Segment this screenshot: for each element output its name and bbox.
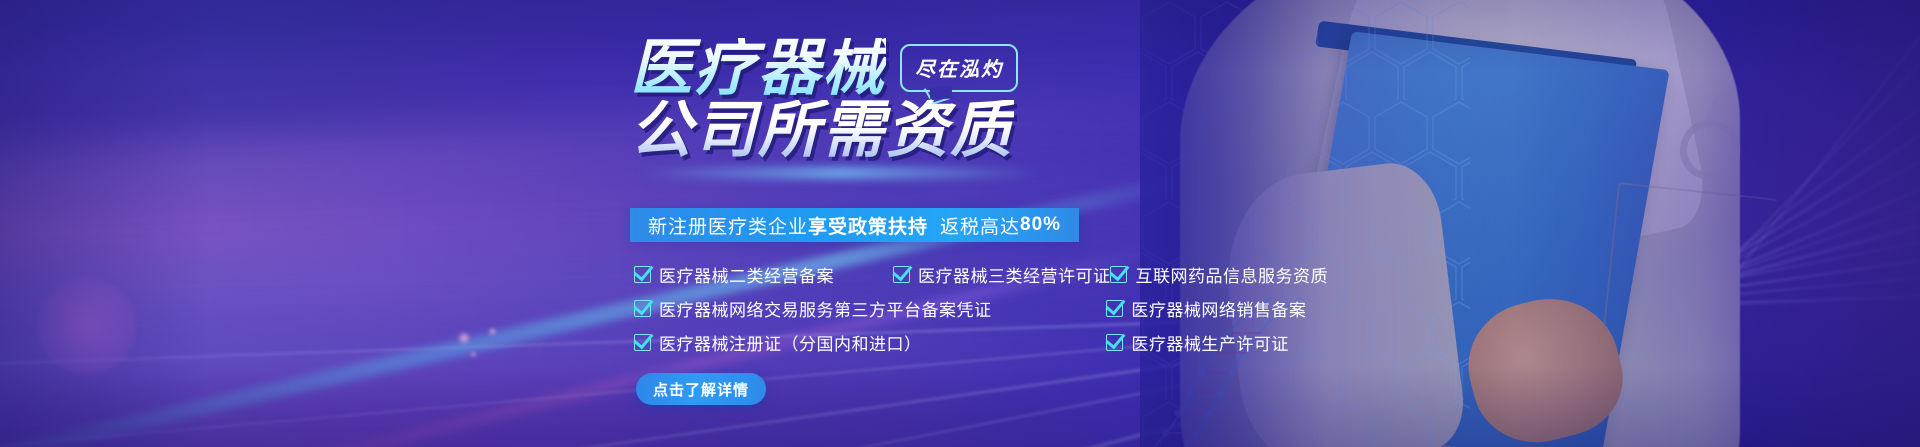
headline-underglow xyxy=(640,168,1040,178)
list-item[interactable]: 医疗器械网络交易服务第三方平台备案凭证 xyxy=(634,296,1106,321)
list-item-label: 医疗器械生产许可证 xyxy=(1131,330,1289,355)
list-item[interactable]: 医疗器械二类经营备案 xyxy=(634,262,893,287)
checkbox-checked-icon xyxy=(893,266,910,283)
badge-speech-bubble: 尽在泓灼 xyxy=(900,44,1018,92)
list-item-label: 互联网药品信息服务资质 xyxy=(1135,262,1328,287)
list-item-label: 医疗器械注册证（分国内和进口） xyxy=(659,330,922,355)
list-item-label: 医疗器械网络销售备案 xyxy=(1131,296,1306,321)
list-item-label: 医疗器械网络交易服务第三方平台备案凭证 xyxy=(659,296,992,321)
checkbox-checked-icon xyxy=(634,300,651,317)
checklist-cell: 医疗器械二类经营备案 xyxy=(634,262,893,287)
checklist-cell: 医疗器械网络销售备案 xyxy=(1106,296,1334,321)
cta-button[interactable]: 点击了解详情 xyxy=(636,373,766,405)
checkbox-checked-icon xyxy=(1106,334,1123,351)
medical-device-qualification-banner: 医疗器械 尽在泓灼 公司所需资质 新注册医疗类企业享受政策扶持返税高达80% 医… xyxy=(0,0,1920,447)
checklist-cell: 医疗器械三类经营许可证 xyxy=(893,262,1111,287)
checkbox-checked-icon xyxy=(634,266,651,283)
list-item[interactable]: 医疗器械网络销售备案 xyxy=(1106,296,1334,321)
headline-row: 医疗器械 尽在泓灼 xyxy=(630,38,1018,100)
badge-label: 尽在泓灼 xyxy=(915,59,1003,81)
qualification-checklist: 医疗器械二类经营备案 医疗器械三类经营许可证 互联网药品信息服务资质 xyxy=(634,262,1334,364)
list-item-label: 医疗器械三类经营许可证 xyxy=(918,262,1111,287)
list-item[interactable]: 互联网药品信息服务资质 xyxy=(1110,262,1334,287)
checklist-cell: 医疗器械生产许可证 xyxy=(1106,330,1334,355)
checklist-cell: 医疗器械注册证（分国内和进口） xyxy=(634,330,1106,355)
subtitle-bold: 享受政策扶持 xyxy=(808,212,928,239)
headline-line-2: 公司所需资质 xyxy=(630,100,1014,162)
subtitle-suffix: 返税高达 xyxy=(940,212,1020,239)
checkbox-checked-icon xyxy=(1106,300,1123,317)
checklist-cell: 医疗器械网络交易服务第三方平台备案凭证 xyxy=(634,296,1106,321)
headline-line-1: 医疗器械 xyxy=(630,38,886,100)
checklist-row: 医疗器械二类经营备案 医疗器械三类经营许可证 互联网药品信息服务资质 xyxy=(634,262,1334,296)
list-item[interactable]: 医疗器械三类经营许可证 xyxy=(893,262,1111,287)
checkbox-checked-icon xyxy=(1110,266,1127,283)
subtitle-bar: 新注册医疗类企业享受政策扶持返税高达80% xyxy=(630,208,1079,242)
list-item-label: 医疗器械二类经营备案 xyxy=(659,262,834,287)
checklist-row: 医疗器械注册证（分国内和进口） 医疗器械生产许可证 xyxy=(634,330,1334,364)
list-item[interactable]: 医疗器械生产许可证 xyxy=(1106,330,1334,355)
subtitle-prefix: 新注册医疗类企业 xyxy=(648,212,808,239)
banner-content: 医疗器械 尽在泓灼 公司所需资质 新注册医疗类企业享受政策扶持返税高达80% 医… xyxy=(630,0,1330,447)
checklist-cell: 互联网药品信息服务资质 xyxy=(1110,262,1334,287)
list-item[interactable]: 医疗器械注册证（分国内和进口） xyxy=(634,330,1106,355)
checklist-row: 医疗器械网络交易服务第三方平台备案凭证 医疗器械网络销售备案 xyxy=(634,296,1334,330)
checkbox-checked-icon xyxy=(634,334,651,351)
subtitle-bold-2: 80% xyxy=(1020,214,1061,236)
